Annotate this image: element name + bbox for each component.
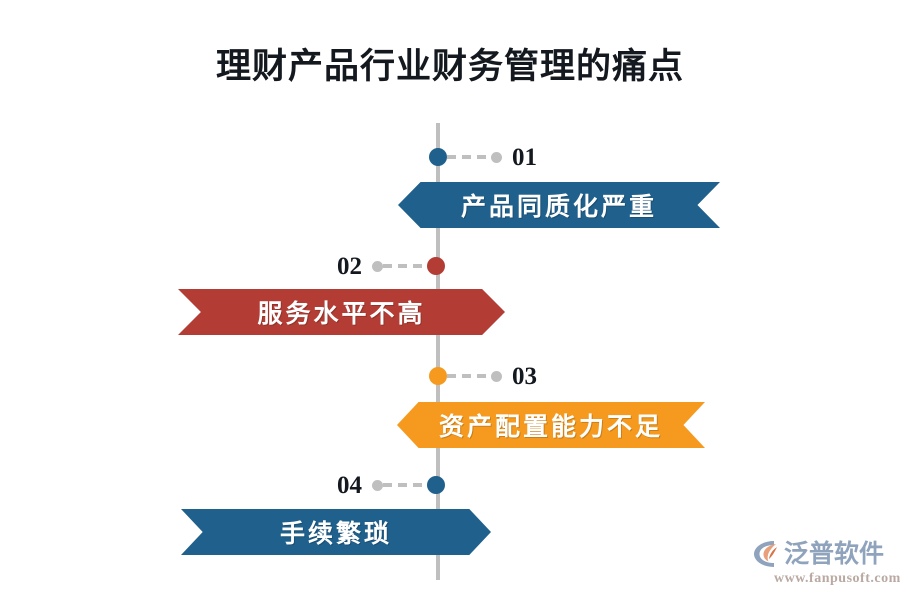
timeline-banner-02[interactable]: 服务水平不高	[178, 289, 505, 335]
dashed-connector-03	[447, 374, 491, 378]
timeline-connector-04: 04	[258, 476, 438, 494]
brand-logo-name: 泛普软件	[784, 542, 884, 567]
step-number-03: 03	[512, 364, 537, 389]
timeline-connector-02: 02	[258, 257, 438, 275]
fanpu-swoosh-icon	[752, 539, 782, 569]
dashed-connector-02	[383, 264, 427, 268]
timeline-node-dot-01	[429, 148, 447, 166]
dashed-connector-04	[383, 483, 427, 487]
timeline-connector-03: 03	[436, 367, 537, 385]
connector-tip-dot-04	[372, 480, 383, 491]
step-number-02: 02	[337, 254, 362, 279]
timeline-banner-label-02: 服务水平不高	[257, 294, 425, 330]
timeline-banner-label-01: 产品同质化严重	[461, 187, 657, 223]
brand-logo: 泛普软件 www.fanpusoft.com	[752, 538, 892, 588]
timeline-banner-label-03: 资产配置能力不足	[439, 407, 663, 443]
step-number-01: 01	[512, 145, 537, 170]
brand-logo-url: www.fanpusoft.com	[774, 571, 892, 587]
timeline-banner-01[interactable]: 产品同质化严重	[398, 182, 720, 228]
step-number-04: 04	[337, 473, 362, 498]
timeline-banner-label-04: 手续繁琐	[280, 514, 392, 550]
timeline-node-dot-03	[429, 367, 447, 385]
timeline-banner-03[interactable]: 资产配置能力不足	[397, 402, 705, 448]
connector-tip-dot-03	[491, 371, 502, 382]
connector-tip-dot-02	[372, 261, 383, 272]
infographic-canvas: 理财产品行业财务管理的痛点 01 产品同质化严重 02 服务水平不高 03 资产…	[0, 0, 900, 600]
timeline-node-dot-02	[427, 257, 445, 275]
timeline-banner-04[interactable]: 手续繁琐	[181, 509, 491, 555]
connector-tip-dot-01	[491, 152, 502, 163]
timeline-node-dot-04	[427, 476, 445, 494]
brand-logo-row: 泛普软件	[752, 538, 892, 570]
dashed-connector-01	[447, 155, 491, 159]
page-title: 理财产品行业财务管理的痛点	[0, 38, 900, 89]
timeline-connector-01: 01	[436, 148, 537, 166]
